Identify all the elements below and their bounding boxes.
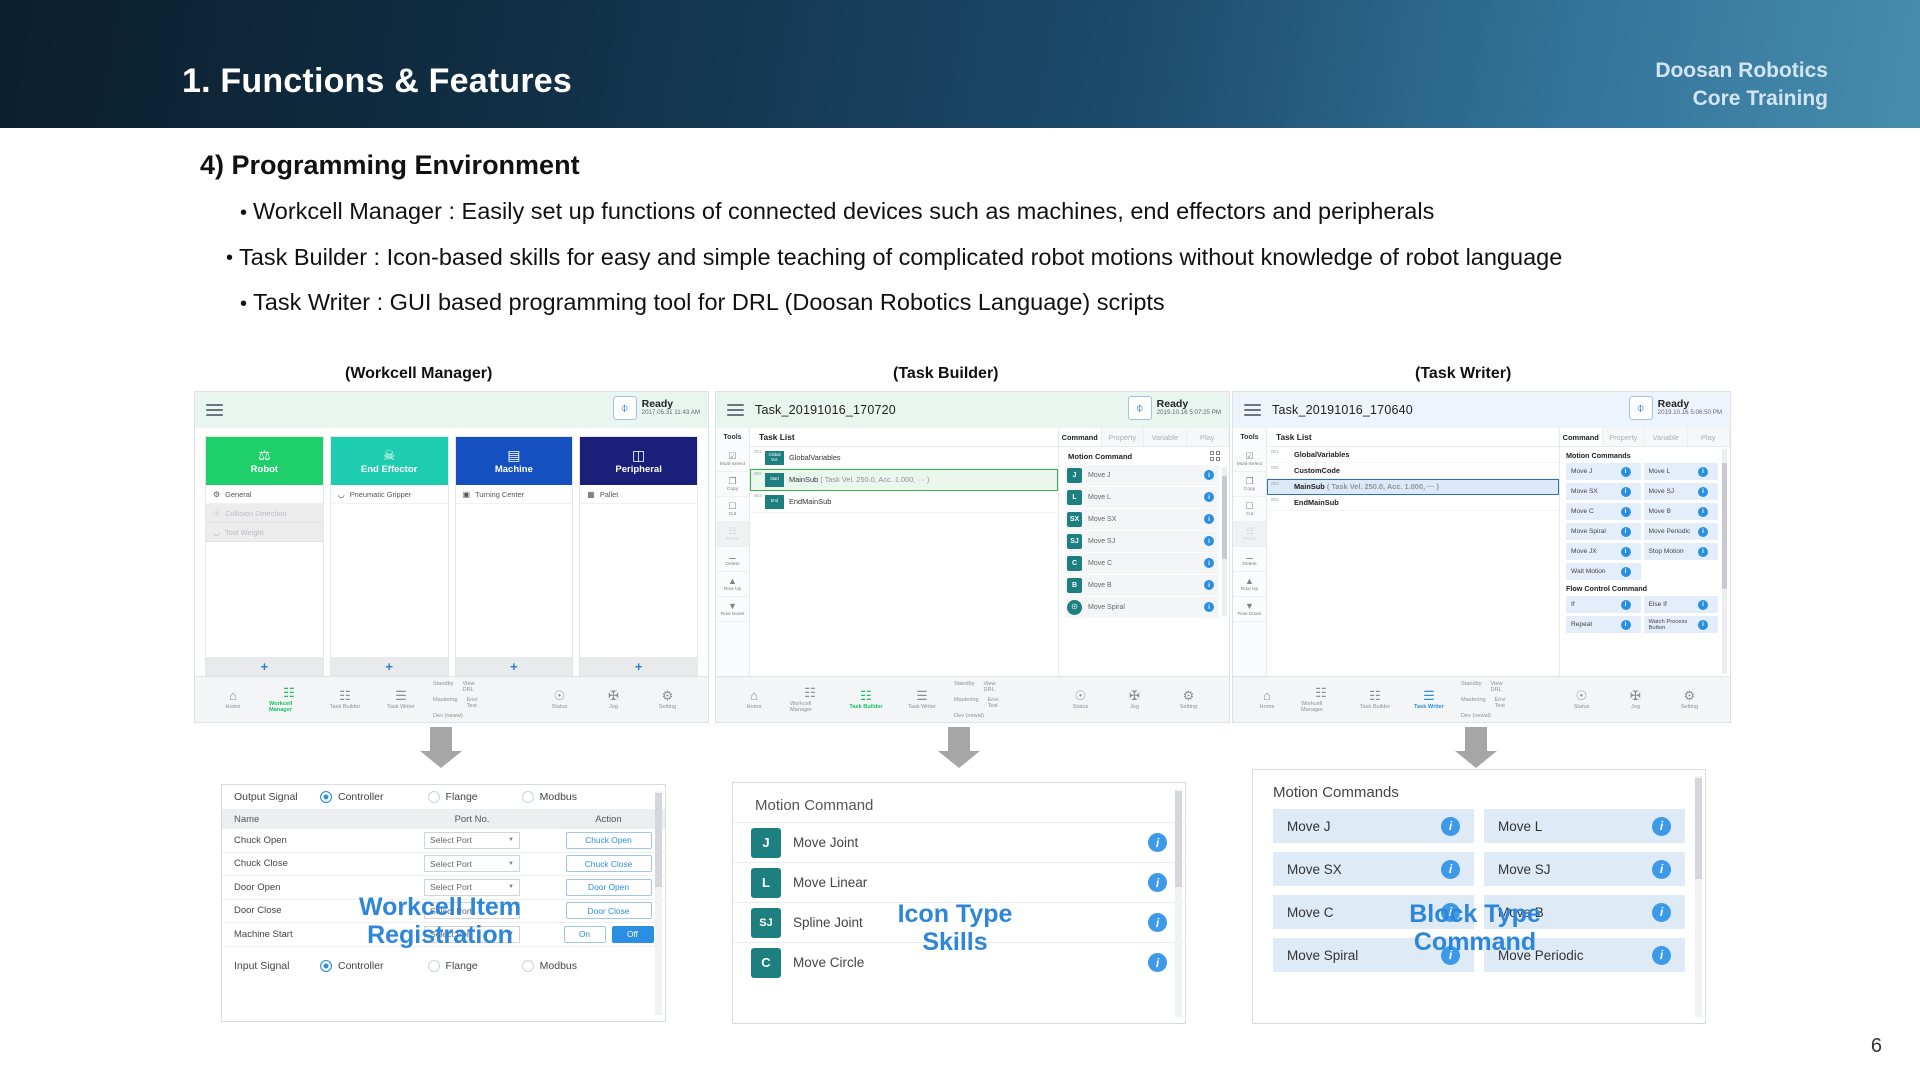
item-label: Collision Detection <box>225 509 286 518</box>
toolbar-jog[interactable]: ✠Jog <box>1114 689 1154 710</box>
toolbar-home[interactable]: ⌂Home <box>1247 689 1287 710</box>
radio-modbus-output[interactable]: Modbus <box>522 791 577 803</box>
move-j-icon: J <box>1067 468 1082 483</box>
tool-cut[interactable]: ☐Cut <box>1233 497 1266 522</box>
info-icon[interactable]: i <box>1698 467 1708 477</box>
tab-command[interactable]: Command <box>1560 428 1603 446</box>
command-label: Move L <box>1088 494 1198 501</box>
info-icon[interactable]: i <box>1204 536 1214 546</box>
table-row: Door Open Select Port▼ Door Open <box>222 876 665 900</box>
command-column: Command Property Variable Play Motion Co… <box>1059 428 1229 676</box>
tool-row-up[interactable]: ▲Row Up <box>1233 572 1266 597</box>
toolbar-workcell-manager[interactable]: ☷Workcell Manager <box>269 686 309 713</box>
port-select[interactable]: Select Port▼ <box>424 879 520 896</box>
tool-label: Multi-Select <box>1237 462 1263 467</box>
output-signal-row: Output Signal Controller Flange Modbus <box>222 785 665 809</box>
radio-flange-output[interactable]: Flange <box>428 791 478 803</box>
chevron-down-icon: ▼ <box>508 931 514 937</box>
toolbar-label: Home <box>226 704 241 710</box>
block-label: Move SX <box>1571 488 1621 495</box>
info-icon[interactable]: i <box>1204 580 1214 590</box>
caption-task-writer: (Task Writer) <box>1415 365 1511 383</box>
row-down-icon: ▼ <box>1245 602 1254 611</box>
flow-control-label: Flow Control Command <box>1560 580 1730 596</box>
info-icon[interactable]: i <box>1698 600 1708 610</box>
list-item[interactable]: ◡Tool Weight <box>206 523 323 542</box>
radio-label: Modbus <box>540 791 577 803</box>
info-icon[interactable]: i <box>1621 487 1631 497</box>
tool-delete[interactable]: ⚊Delete <box>716 547 749 572</box>
action-button[interactable]: Chuck Open <box>566 832 652 849</box>
info-icon[interactable]: i <box>1621 507 1631 517</box>
robot-status-icon: ⌽ <box>1128 396 1152 420</box>
bullet-list: •Workcell Manager : Easily set up functi… <box>218 200 1898 337</box>
tab-property[interactable]: Property <box>1102 428 1145 446</box>
item-label: Turning Center <box>475 490 524 499</box>
block-label: Move B <box>1498 905 1652 920</box>
scrollbar[interactable] <box>655 791 662 1015</box>
mini-dev: Dev (newal) <box>1461 713 1491 719</box>
block-stop-motion[interactable]: Stop Motioni <box>1644 543 1719 560</box>
add-peripheral-button[interactable]: + <box>580 657 697 675</box>
tool-multi-select[interactable]: ☑Multi-Select <box>716 447 749 472</box>
status-area: ⌽ Ready 2019.10.16 5:07:25 PM <box>1128 396 1221 420</box>
radio-dot <box>320 791 332 803</box>
task-writer-body: Tools ☑Multi-Select ❐Copy ☐Cut ☷Paste ⚊D… <box>1233 428 1730 676</box>
copy-icon: ❐ <box>1245 477 1253 486</box>
toolbar-task-builder[interactable]: ☷Task Builder <box>846 689 886 710</box>
info-icon[interactable]: i <box>1621 547 1631 557</box>
hamburger-icon[interactable] <box>1244 401 1261 418</box>
add-end-effector-button[interactable]: + <box>331 657 448 675</box>
tab-play[interactable]: Play <box>1187 428 1230 446</box>
port-select[interactable]: Select Port▼ <box>424 926 520 943</box>
list-item[interactable]: SXMove SXi <box>1065 509 1219 530</box>
motion-command-section: Motion Command <box>1059 447 1229 465</box>
tool-multi-select[interactable]: ☑Multi-Select <box>1233 447 1266 472</box>
tab-command[interactable]: Command <box>1059 428 1102 446</box>
list-item[interactable]: ▦Pallet <box>580 485 697 504</box>
info-icon[interactable]: i <box>1698 507 1708 517</box>
toolbar-label: Task Builder <box>849 704 882 710</box>
scrollbar[interactable] <box>1722 449 1727 674</box>
block-move-b[interactable]: Move Bi <box>1644 503 1719 520</box>
tool-delete[interactable]: ⚊Delete <box>1233 547 1266 572</box>
block-move-j[interactable]: Move Ji <box>1566 463 1641 480</box>
info-icon[interactable]: i <box>1441 817 1460 836</box>
block-move-l[interactable]: Move Li <box>1644 463 1719 480</box>
toolbar-jog[interactable]: ✠Jog <box>593 689 633 710</box>
command-label: Move SJ <box>1088 538 1198 545</box>
grid-view-icon[interactable] <box>1210 451 1220 461</box>
block-move-spiral[interactable]: Move Spirali <box>1566 523 1641 540</box>
info-icon[interactable]: i <box>1204 558 1214 568</box>
table-row[interactable]: 002 CustomCode <box>1267 463 1559 479</box>
block-move-sx[interactable]: Move SXi <box>1273 852 1474 886</box>
toolbar-label: Task Builder <box>330 704 360 710</box>
info-icon[interactable]: i <box>1441 860 1460 879</box>
info-icon[interactable]: i <box>1441 946 1460 965</box>
hamburger-icon[interactable] <box>727 401 744 418</box>
workcell-item-registration-panel: Output Signal Controller Flange Modbus N… <box>222 785 665 1021</box>
block-watch-process-button[interactable]: Watch Process Buttoni <box>1644 616 1719 633</box>
port-value: Select Port <box>430 882 472 892</box>
radio-dot <box>522 960 534 972</box>
block-label: Move J <box>1571 468 1621 475</box>
toolbar-power[interactable]: ⏻Power <box>1222 689 1229 710</box>
task-title: Task_20191016_170720 <box>755 403 896 417</box>
scrollbar[interactable] <box>1175 789 1182 1017</box>
block-label: Move JX <box>1571 548 1621 555</box>
table-row[interactable]: 002 Start MainSub ( Task Vel. 250.0, Acc… <box>750 469 1058 491</box>
hamburger-icon[interactable] <box>206 401 223 418</box>
input-signal-label: Input Signal <box>234 960 320 972</box>
port-select[interactable]: Select Port▼ <box>424 855 520 872</box>
toolbar-status-mini: StandbyView DRL MasteringEnvi Test Dev (… <box>433 681 477 719</box>
info-icon[interactable]: i <box>1148 873 1167 892</box>
toolbar-task-writer[interactable]: ☰Task Writer <box>381 689 421 710</box>
tool-copy[interactable]: ❐Copy <box>1233 472 1266 497</box>
action-button[interactable]: Door Open <box>566 879 652 896</box>
task-builder-body: Tools ☑Multi-Select ❐Copy ☐Cut ☷Paste ⚊D… <box>716 428 1229 676</box>
mini-standby: Standby <box>433 681 454 693</box>
workcell-card-machine[interactable]: ▤ Machine ▣Turning Center + <box>455 436 574 676</box>
radio-dot <box>320 960 332 972</box>
toggle-off-button[interactable]: Off <box>612 926 654 943</box>
action-button[interactable]: Chuck Close <box>566 855 652 872</box>
toolbar-status[interactable]: ☉Status <box>1060 689 1100 710</box>
move-b-icon: B <box>1067 578 1082 593</box>
block-move-sj[interactable]: Move SJi <box>1644 483 1719 500</box>
block-move-c[interactable]: Move Ci <box>1273 895 1474 929</box>
toolbar-status[interactable]: ☉Status <box>1561 689 1601 710</box>
radio-controller-output[interactable]: Controller <box>320 791 384 803</box>
block-else-if[interactable]: Else Ifi <box>1644 596 1719 613</box>
tool-copy[interactable]: ❐Copy <box>716 472 749 497</box>
info-icon[interactable]: i <box>1204 492 1214 502</box>
chevron-down-icon: ▼ <box>508 908 514 914</box>
list-item[interactable]: SJMove SJi <box>1065 531 1219 552</box>
info-icon[interactable]: i <box>1204 470 1214 480</box>
block-label: Move B <box>1649 508 1699 515</box>
block-label: If <box>1571 601 1621 608</box>
toolbar-home[interactable]: ⌂Home <box>734 689 774 710</box>
tool-label: Delete <box>725 562 739 567</box>
port-select[interactable]: Select Port▼ <box>424 832 520 849</box>
info-icon[interactable]: i <box>1148 913 1167 932</box>
block-label: Move Periodic <box>1498 948 1652 963</box>
radio-label: Flange <box>446 960 478 972</box>
command-label: Move J <box>1088 472 1198 479</box>
block-wait-motion[interactable]: Wait Motioni <box>1566 563 1641 580</box>
block-label: Move L <box>1649 468 1699 475</box>
table-header: Name Port No. Action <box>222 809 665 829</box>
toggle-on-button[interactable]: On <box>564 926 606 943</box>
tool-paste[interactable]: ☷Paste <box>1233 522 1266 547</box>
toolbar-task-builder[interactable]: ☷Task Builder <box>325 689 365 710</box>
info-icon[interactable]: i <box>1148 953 1167 972</box>
home-icon: ⌂ <box>750 689 758 702</box>
task-builder-screenshot: Task_20191016_170720 ⌽ Ready 2019.10.16 … <box>716 392 1229 722</box>
task-list-column: Task List 001 GlobalVariables 002 Custom… <box>1267 428 1560 676</box>
move-circle-icon: C <box>751 948 781 978</box>
row-name: Machine Start <box>222 929 392 940</box>
col-port-no: Port No. <box>392 814 552 825</box>
mini-envi-test: Envi Test <box>988 697 999 709</box>
block-label: Move Periodic <box>1649 528 1699 535</box>
tool-cut[interactable]: ☐Cut <box>716 497 749 522</box>
toolbar-home[interactable]: ⌂Home <box>213 689 253 710</box>
list-item[interactable]: L Move Linear i <box>733 862 1185 902</box>
list-item[interactable]: C Move Circle i <box>733 942 1185 982</box>
skill-label: Move Joint <box>793 835 1136 850</box>
add-robot-button[interactable]: + <box>206 657 323 675</box>
table-row[interactable]: 003 End EndMainSub <box>750 491 1058 513</box>
toolbar-task-writer[interactable]: ☰Task Writer <box>1409 689 1449 710</box>
block-move-jx[interactable]: Move JXi <box>1566 543 1641 560</box>
task-builder-icon: ☷ <box>339 689 351 702</box>
row-up-icon: ▲ <box>728 577 737 586</box>
toolbar-setting[interactable]: ⚙Setting <box>1168 689 1208 710</box>
delete-icon: ⚊ <box>728 552 736 561</box>
toolbar-power[interactable]: ⏻Power <box>701 689 708 710</box>
move-linear-icon: L <box>751 868 781 898</box>
tool-row-down[interactable]: ▼Row Down <box>1233 597 1266 622</box>
row-down-icon: ▼ <box>728 602 737 611</box>
page-number: 6 <box>1871 1035 1882 1058</box>
icon-type-skills-panel: Motion Command J Move Joint i L Move Lin… <box>733 783 1185 1023</box>
info-icon[interactable]: i <box>1621 567 1631 577</box>
scrollbar-thumb[interactable] <box>1222 476 1227 559</box>
toolbar-label: Setting <box>659 704 676 710</box>
panel-title: Motion Commands <box>1253 770 1705 809</box>
toolbar-status[interactable]: ☉Status <box>539 689 579 710</box>
port-select[interactable]: Select Port▼ <box>424 902 520 919</box>
info-icon[interactable]: i <box>1621 620 1631 630</box>
info-icon[interactable]: i <box>1621 467 1631 477</box>
list-item[interactable]: CMove Ci <box>1065 553 1219 574</box>
tool-paste[interactable]: ☷Paste <box>716 522 749 547</box>
caption-workcell-manager: (Workcell Manager) <box>345 365 492 383</box>
tool-label: Cut <box>729 512 737 517</box>
table-row[interactable]: 001 GlobalVariables <box>1267 447 1559 463</box>
tool-label: Copy <box>1244 487 1255 492</box>
command-column: Command Property Variable Play Motion Co… <box>1560 428 1730 676</box>
scrollbar[interactable] <box>1222 467 1227 616</box>
mini-view-drl: View DRL <box>463 681 478 693</box>
task-list-header: Task List <box>750 428 1058 447</box>
skill-label: Move Circle <box>793 955 1136 970</box>
info-icon[interactable]: i <box>1148 833 1167 852</box>
table-row[interactable]: 001 Global Var. GlobalVariables <box>750 447 1058 469</box>
info-icon[interactable]: i <box>1204 602 1214 612</box>
table-row[interactable]: 003 MainSub ( Task Vel. 250.0, Acc. 1.00… <box>1267 479 1559 495</box>
list-item[interactable]: BMove Bi <box>1065 575 1219 596</box>
toolbar-label: Workcell Manager <box>1301 701 1341 713</box>
scrollbar-thumb[interactable] <box>655 793 662 887</box>
card-header: ▤ Machine <box>456 437 573 485</box>
motion-commands-label: Motion Commands <box>1560 447 1730 463</box>
mini-dev: Dev (newal) <box>433 713 463 719</box>
row-detail: ( Task Vel. 250.0, Acc. 1.000, ··· ) <box>1327 482 1439 491</box>
row-name: Door Open <box>222 882 392 893</box>
home-icon: ⌂ <box>1263 689 1271 702</box>
task-writer-icon: ☰ <box>1423 689 1435 702</box>
toolbar-setting[interactable]: ⚙Setting <box>647 689 687 710</box>
workcell-card-robot[interactable]: ⚖ Robot ⚙General ☉Collision Detection ◡T… <box>205 436 324 676</box>
list-item[interactable]: ◡Pneumatic Gripper <box>331 485 448 504</box>
block-move-j[interactable]: Move Ji <box>1273 809 1474 843</box>
info-icon[interactable]: i <box>1698 487 1708 497</box>
toolbar-label: Task Writer <box>908 704 936 710</box>
list-item[interactable]: LMove Li <box>1065 487 1219 508</box>
tool-row-up[interactable]: ▲Row Up <box>716 572 749 597</box>
card-title: Peripheral <box>615 464 661 475</box>
list-item: •Task Writer : GUI based programming too… <box>218 291 1898 315</box>
card-title: Robot <box>251 464 278 475</box>
list-item[interactable]: ☉Collision Detection <box>206 504 323 523</box>
card-item-list: ⚙General ☉Collision Detection ◡Tool Weig… <box>206 485 323 657</box>
workcell-icon: ☷ <box>1315 686 1327 699</box>
section-label: Motion Command <box>1068 452 1132 461</box>
col-name: Name <box>222 814 392 825</box>
radio-dot <box>522 791 534 803</box>
radio-modbus-input[interactable]: Modbus <box>522 960 577 972</box>
screen-titlebar: Task_20191016_170640 ⌽ Ready 2019.10.16 … <box>1233 392 1730 428</box>
tab-variable[interactable]: Variable <box>1144 428 1187 446</box>
row-number: 003 <box>754 493 762 498</box>
toolbar-power[interactable]: ⏻Power <box>1723 689 1730 710</box>
block-label: Move SJ <box>1649 488 1699 495</box>
skill-label: Spline Joint <box>793 915 1136 930</box>
add-machine-button[interactable]: + <box>456 657 573 675</box>
info-icon[interactable]: i <box>1441 903 1460 922</box>
card-title: End Effector <box>361 464 417 475</box>
toolbar-workcell-manager[interactable]: ☷Workcell Manager <box>790 686 830 713</box>
tool-label: Row Down <box>721 612 745 617</box>
block-label: Wait Motion <box>1571 568 1621 575</box>
block-label: Move C <box>1571 508 1621 515</box>
tools-column: Tools ☑Multi-Select ❐Copy ☐Cut ☷Paste ⚊D… <box>1233 428 1267 676</box>
scrollbar-thumb[interactable] <box>1722 463 1727 589</box>
port-value: Select Port <box>430 835 472 845</box>
chevron-down-icon: ▼ <box>508 837 514 843</box>
action-button[interactable]: Door Close <box>566 902 652 919</box>
block-move-l[interactable]: Move Li <box>1484 809 1685 843</box>
status-text: Ready 2017.05.31 11:43 AM <box>642 399 700 417</box>
row-number: 004 <box>1271 497 1279 502</box>
info-icon[interactable]: i <box>1698 547 1708 557</box>
toolbar-label: Home <box>1260 704 1275 710</box>
motion-command-grid: Move Ji Move Li Move SXi Move SJi Move C… <box>1560 463 1730 580</box>
bullet-text: Workcell Manager : Easily set up functio… <box>253 198 1434 224</box>
table-row[interactable]: 004 EndMainSub <box>1267 495 1559 511</box>
table-row: Machine Start Select Port▼ On Off <box>222 923 665 947</box>
block-repeat[interactable]: Repeati <box>1566 616 1641 633</box>
radio-flange-input[interactable]: Flange <box>428 960 478 972</box>
toolbar-task-builder[interactable]: ☷Task Builder <box>1355 689 1395 710</box>
list-item[interactable]: J Move Joint i <box>733 822 1185 862</box>
mini-envi-test: Envi Test <box>1495 697 1506 709</box>
scrollbar-thumb[interactable] <box>1695 778 1702 879</box>
block-move-sx[interactable]: Move SXi <box>1566 483 1641 500</box>
toolbar-workcell-manager[interactable]: ☷Workcell Manager <box>1301 686 1341 713</box>
block-label: Repeat <box>1571 621 1621 628</box>
mini-mastering: Mastering <box>954 697 979 709</box>
info-icon[interactable]: i <box>1621 600 1631 610</box>
radio-label: Controller <box>338 791 384 803</box>
workcell-card-end-effector[interactable]: ☠ End Effector ◡Pneumatic Gripper + <box>330 436 449 676</box>
info-icon[interactable]: i <box>1652 946 1671 965</box>
toolbar-label: Task Builder <box>1360 704 1390 710</box>
robot-arm-icon: ⚖ <box>258 448 271 462</box>
info-icon[interactable]: i <box>1698 527 1708 537</box>
list-item[interactable]: SJ Spline Joint i <box>733 902 1185 942</box>
tool-label: Paste <box>1243 537 1256 542</box>
tab-property[interactable]: Property <box>1603 428 1646 446</box>
list-item[interactable]: ☉Move Spirali <box>1065 597 1219 618</box>
radio-controller-input[interactable]: Controller <box>320 960 384 972</box>
tool-row-down[interactable]: ▼Row Down <box>716 597 749 622</box>
tab-variable[interactable]: Variable <box>1645 428 1688 446</box>
list-item[interactable]: ▣Turning Center <box>456 485 573 504</box>
weight-icon: ◡ <box>213 528 220 537</box>
info-icon[interactable]: i <box>1652 903 1671 922</box>
item-label: Tool Weight <box>225 528 263 537</box>
table-row: Chuck Close Select Port▼ Chuck Close <box>222 853 665 877</box>
row-name: Door Close <box>222 905 392 916</box>
block-move-b[interactable]: Move Bi <box>1484 895 1685 929</box>
info-icon[interactable]: i <box>1652 860 1671 879</box>
port-value: Select Port <box>430 906 472 916</box>
status-time: 2019.10.16 5:06:50 PM <box>1658 410 1722 417</box>
tool-label: Row Down <box>1238 612 1262 617</box>
toolbar-label: Status <box>1574 704 1590 710</box>
row-name-text: MainSub <box>1294 482 1325 491</box>
row-name-text: MainSub <box>789 475 818 484</box>
list-item[interactable]: JMove Ji <box>1065 465 1219 486</box>
tool-label: Row Up <box>724 587 741 592</box>
workcell-card-peripheral[interactable]: ◫ Peripheral ▦Pallet + <box>579 436 698 676</box>
scrollbar-thumb[interactable] <box>1175 791 1182 887</box>
block-move-c[interactable]: Move Ci <box>1566 503 1641 520</box>
paste-icon: ☷ <box>728 527 736 536</box>
info-icon[interactable]: i <box>1652 817 1671 836</box>
list-item[interactable]: ⚙General <box>206 485 323 504</box>
info-icon[interactable]: i <box>1621 527 1631 537</box>
toolbar-jog[interactable]: ✠Jog <box>1615 689 1655 710</box>
block-move-periodic[interactable]: Move Periodici <box>1644 523 1719 540</box>
info-icon[interactable]: i <box>1698 620 1708 630</box>
scrollbar[interactable] <box>1695 776 1702 1017</box>
block-if[interactable]: Ifi <box>1566 596 1641 613</box>
tool-label: Multi-Select <box>720 462 746 467</box>
tab-play[interactable]: Play <box>1688 428 1731 446</box>
robot-status-icon: ⌽ <box>613 396 637 420</box>
block-move-sj[interactable]: Move SJi <box>1484 852 1685 886</box>
toolbar-task-writer[interactable]: ☰Task Writer <box>902 689 942 710</box>
toolbar-setting[interactable]: ⚙Setting <box>1669 689 1709 710</box>
block-move-periodic[interactable]: Move Periodici <box>1484 938 1685 972</box>
task-list-column: Task List 001 Global Var. GlobalVariable… <box>750 428 1059 676</box>
paste-icon: ☷ <box>1245 527 1253 536</box>
panel-title: Motion Command <box>733 783 1185 822</box>
gear-icon: ⚙ <box>1183 689 1195 702</box>
block-move-spiral[interactable]: Move Spirali <box>1273 938 1474 972</box>
device-toolbar: ⌂Home ☷Workcell Manager ☷Task Builder ☰T… <box>716 676 1229 722</box>
task-writer-icon: ☰ <box>916 689 928 702</box>
info-icon[interactable]: i <box>1204 514 1214 524</box>
